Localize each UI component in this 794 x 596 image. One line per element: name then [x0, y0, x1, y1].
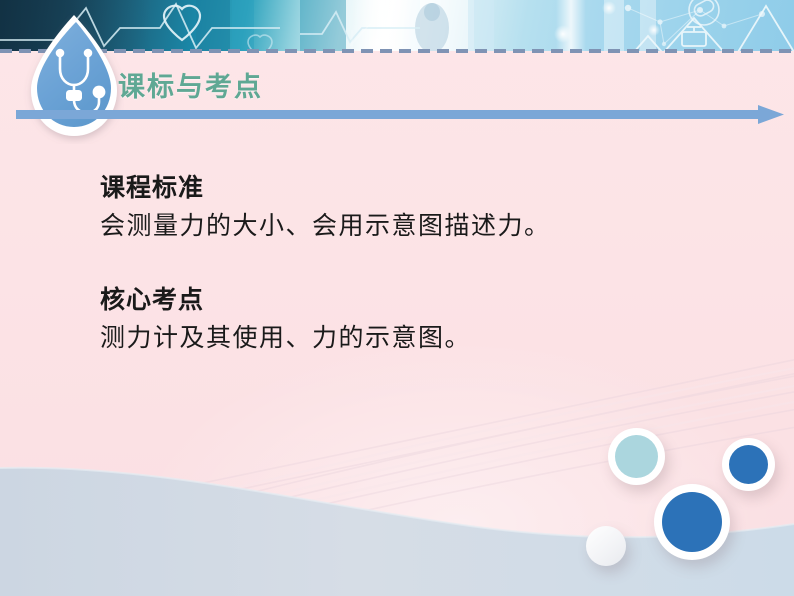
arrow-divider	[16, 104, 786, 126]
heart-outline-icon	[164, 6, 200, 40]
slide-root: 课标与考点 课程标准 会测量力的大小、会用示意图描述力。 核心考点 测力计及其使…	[0, 0, 794, 596]
section-body-text: 测力计及其使用、力的示意图。	[100, 321, 720, 357]
section-curriculum-standard: 课程标准 会测量力的大小、会用示意图描述力。	[100, 172, 720, 246]
section-core-exam-points: 核心考点 测力计及其使用、力的示意图。	[100, 284, 720, 358]
circle-white	[586, 526, 626, 566]
section-heading: 课程标准	[100, 172, 720, 203]
section-body-text: 会测量力的大小、会用示意图描述力。	[100, 209, 720, 245]
section-heading: 核心考点	[100, 284, 720, 315]
content-area: 课程标准 会测量力的大小、会用示意图描述力。 核心考点 测力计及其使用、力的示意…	[100, 172, 720, 357]
page-title: 课标与考点	[118, 65, 263, 104]
circle-blue-large	[654, 484, 730, 560]
circle-light-teal	[608, 428, 665, 485]
circle-blue-small	[722, 438, 775, 491]
